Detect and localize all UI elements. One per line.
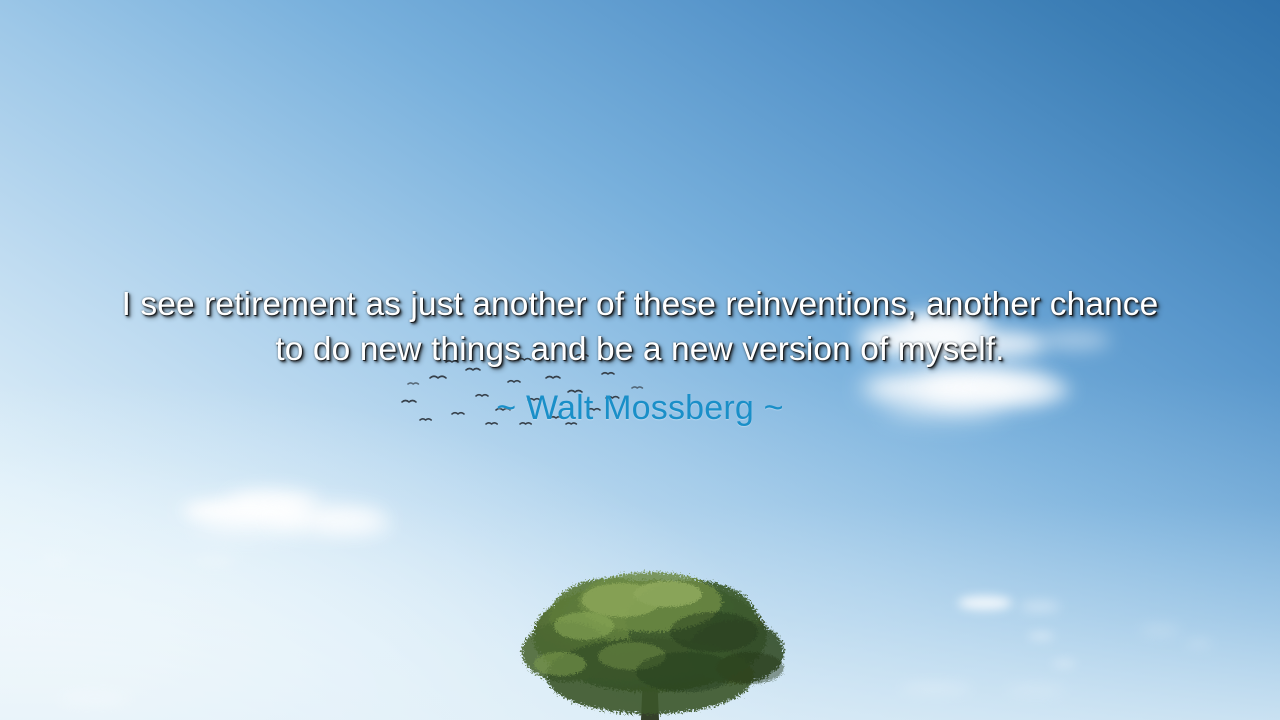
quote-text: I see retirement as just another of thes… [0,282,1280,372]
quote-block: I see retirement as just another of thes… [0,282,1280,429]
oak-tree-illustration [500,560,800,720]
quote-image-canvas: I see retirement as just another of thes… [0,0,1280,720]
quote-author: ~ Walt Mossberg ~ [0,387,1280,429]
